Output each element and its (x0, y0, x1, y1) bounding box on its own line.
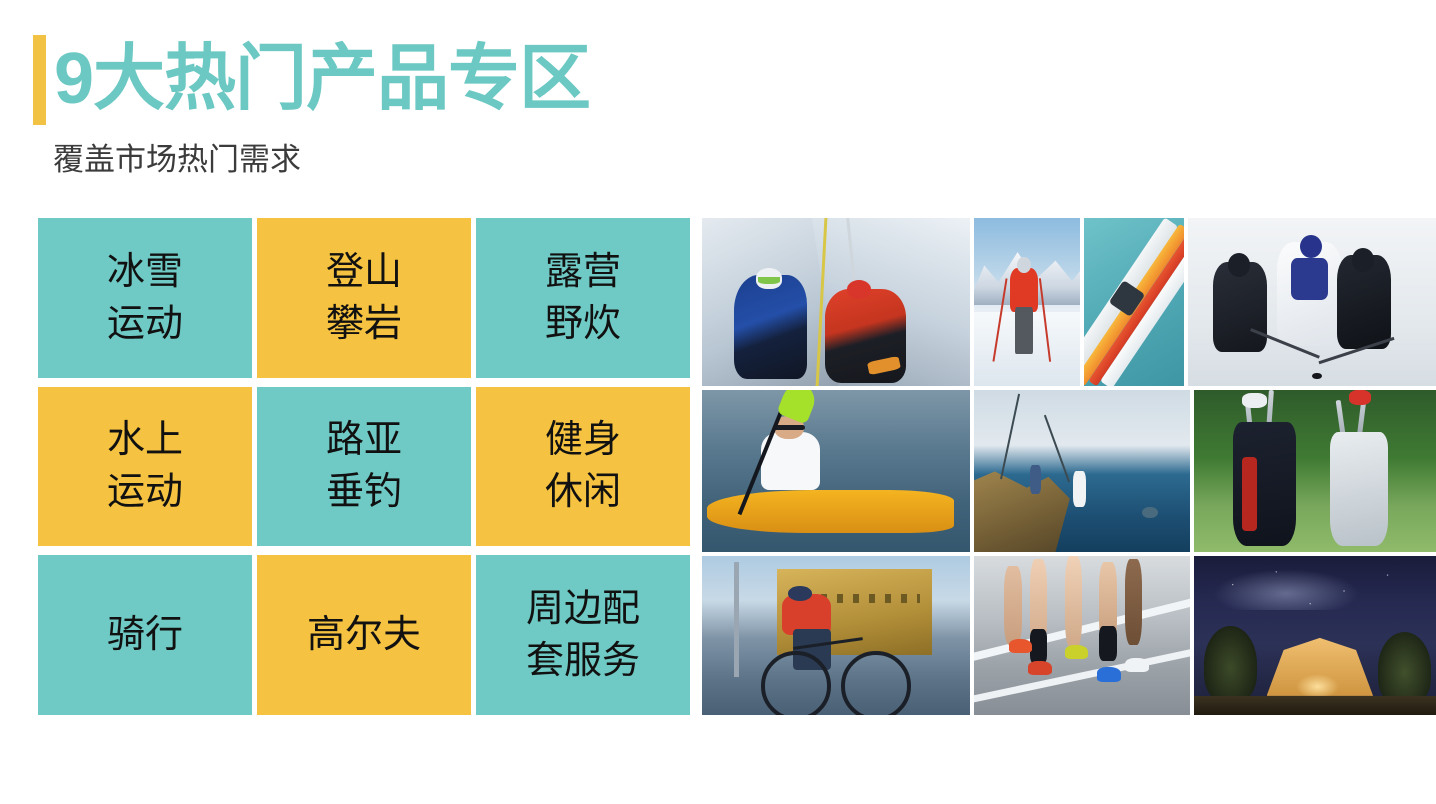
photo-ice-hockey (1188, 218, 1436, 386)
category-tile-mountaineering[interactable]: 登山 攀岩 (257, 218, 471, 378)
photo-kayaking (702, 390, 970, 552)
photo-ice-climbing (702, 218, 970, 386)
category-tile-golf[interactable]: 高尔夫 (257, 555, 471, 715)
photo-row-1 (702, 218, 1436, 386)
page-title: 9大热门产品专区 (54, 36, 590, 122)
photo-row-2 (702, 390, 1436, 552)
category-tile-fitness[interactable]: 健身 休闲 (476, 387, 690, 547)
photo-row-3 (702, 556, 1436, 715)
category-tile-ice-snow[interactable]: 冰雪 运动 (38, 218, 252, 378)
page-header: 9大热门产品专区 覆盖市场热门需求 (0, 0, 1436, 200)
category-tile-support-services[interactable]: 周边配 套服务 (476, 555, 690, 715)
photo-skis-closeup (1084, 218, 1184, 386)
photo-mosaic (702, 218, 1436, 715)
category-tile-camping[interactable]: 露营 野炊 (476, 218, 690, 378)
category-tile-cycling[interactable]: 骑行 (38, 555, 252, 715)
photo-runners (974, 556, 1190, 715)
photo-golf-clubs (1194, 390, 1436, 552)
category-tile-grid: 冰雪 运动 登山 攀岩 露营 野炊 水上 运动 路亚 垂钓 健身 休闲 骑行 高… (38, 218, 690, 715)
photo-alpine-skier (974, 218, 1080, 386)
photo-road-cycling (702, 556, 970, 715)
photo-rock-fishing (974, 390, 1190, 552)
category-tile-water-sports[interactable]: 水上 运动 (38, 387, 252, 547)
photo-glamping-tent (1194, 556, 1436, 715)
title-accent-bar (33, 35, 46, 125)
category-tile-lure-fishing[interactable]: 路亚 垂钓 (257, 387, 471, 547)
page-subtitle: 覆盖市场热门需求 (53, 140, 301, 180)
